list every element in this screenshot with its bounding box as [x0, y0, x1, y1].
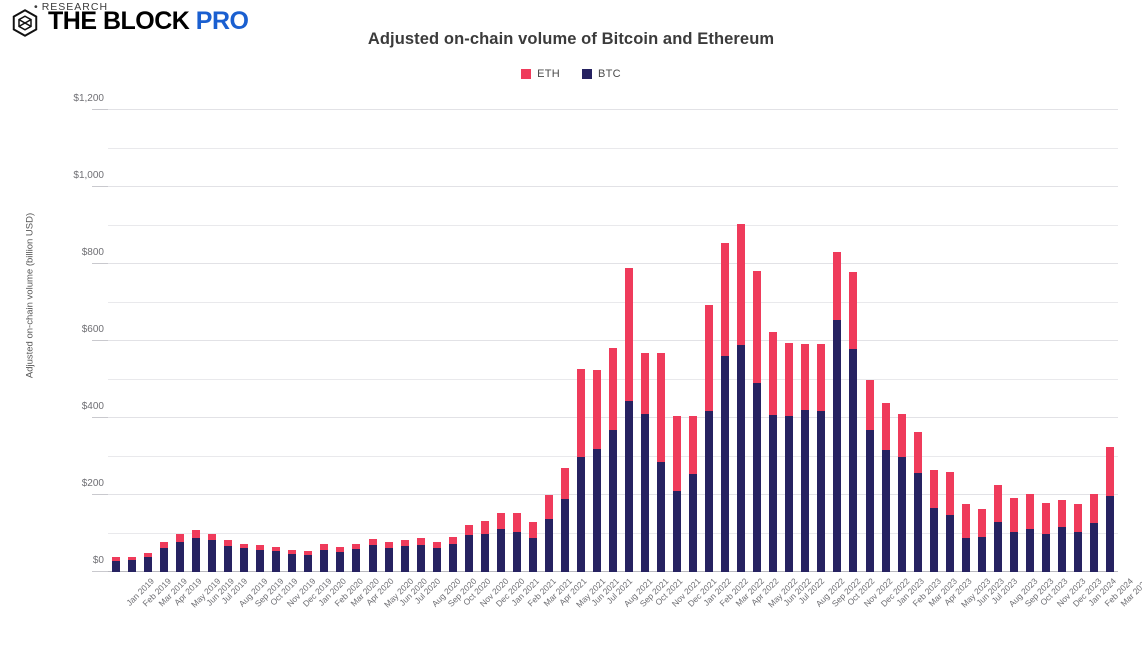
bar-segment-btc[interactable] — [481, 534, 489, 572]
bar-segment-btc[interactable] — [1026, 529, 1034, 572]
bar-segment-eth[interactable] — [1010, 498, 1018, 532]
bar-segment-eth[interactable] — [946, 472, 954, 515]
bar-segment-btc[interactable] — [352, 549, 360, 572]
bar-group[interactable] — [625, 268, 633, 572]
bar-group[interactable] — [673, 416, 681, 572]
bar-segment-btc[interactable] — [978, 537, 986, 572]
bar-group[interactable] — [1058, 500, 1066, 572]
bar-segment-btc[interactable] — [256, 550, 264, 572]
y-tick-label: $600 — [44, 324, 104, 335]
bar-group[interactable] — [898, 414, 906, 572]
bar-group[interactable] — [817, 344, 825, 572]
bar-segment-eth[interactable] — [705, 305, 713, 411]
bar-segment-eth[interactable] — [272, 547, 280, 551]
bar-segment-btc[interactable] — [994, 522, 1002, 572]
bar-group[interactable] — [609, 348, 617, 572]
bar-group[interactable] — [352, 544, 360, 572]
bar-group[interactable] — [689, 416, 697, 572]
bar-group[interactable] — [336, 547, 344, 572]
bar-group[interactable] — [641, 353, 649, 572]
bar-segment-btc[interactable] — [144, 557, 152, 572]
bar-segment-eth[interactable] — [657, 353, 665, 463]
bar-group[interactable] — [1106, 447, 1114, 573]
bar-group[interactable] — [529, 522, 537, 572]
bar-segment-eth[interactable] — [288, 550, 296, 553]
bar-segment-btc[interactable] — [128, 560, 136, 572]
bar-segment-btc[interactable] — [272, 551, 280, 572]
bar-segment-btc[interactable] — [545, 519, 553, 572]
bar-segment-eth[interactable] — [144, 553, 152, 557]
bar-segment-btc[interactable] — [1090, 523, 1098, 572]
bar-group[interactable] — [401, 540, 409, 572]
bar-group[interactable] — [1074, 504, 1082, 572]
bar-segment-eth[interactable] — [978, 509, 986, 537]
bar-segment-btc[interactable] — [866, 430, 874, 572]
bar-group[interactable] — [769, 332, 777, 572]
bar-segment-eth[interactable] — [801, 344, 809, 410]
bar-group[interactable] — [272, 547, 280, 572]
bar-segment-eth[interactable] — [1090, 494, 1098, 523]
y-tick-dash — [92, 571, 108, 572]
bar-segment-btc[interactable] — [401, 546, 409, 572]
bar-segment-eth[interactable] — [481, 521, 489, 534]
bar-segment-eth[interactable] — [401, 540, 409, 546]
bar-segment-eth[interactable] — [625, 268, 633, 401]
bar-group[interactable] — [833, 252, 841, 572]
bar-segment-eth[interactable] — [160, 542, 168, 548]
bar-series-container — [108, 110, 1118, 572]
bar-segment-eth[interactable] — [529, 522, 537, 538]
bar-group[interactable] — [737, 224, 745, 572]
bar-segment-btc[interactable] — [240, 548, 248, 572]
bar-segment-btc[interactable] — [641, 414, 649, 572]
y-tick-label: $800 — [44, 247, 104, 258]
bar-segment-eth[interactable] — [320, 544, 328, 549]
y-tick-dash — [92, 417, 108, 418]
bar-segment-eth[interactable] — [641, 353, 649, 415]
bar-group[interactable] — [946, 472, 954, 572]
bar-group[interactable] — [962, 504, 970, 572]
bar-segment-btc[interactable] — [1106, 496, 1114, 572]
bar-group[interactable] — [288, 550, 296, 572]
bar-group[interactable] — [978, 509, 986, 572]
y-tick-label: $200 — [44, 478, 104, 489]
bar-segment-eth[interactable] — [817, 344, 825, 411]
bar-group[interactable] — [320, 544, 328, 572]
bar-segment-eth[interactable] — [721, 243, 729, 357]
bar-segment-eth[interactable] — [513, 513, 521, 531]
bar-segment-btc[interactable] — [320, 550, 328, 572]
bar-segment-btc[interactable] — [304, 555, 312, 572]
bar-segment-btc[interactable] — [721, 356, 729, 572]
bar-segment-eth[interactable] — [545, 495, 553, 519]
bar-segment-eth[interactable] — [449, 537, 457, 544]
bar-group[interactable] — [192, 530, 200, 572]
bar-group[interactable] — [866, 380, 874, 573]
bar-segment-btc[interactable] — [417, 545, 425, 572]
bar-group[interactable] — [994, 485, 1002, 572]
bar-group[interactable] — [705, 305, 713, 572]
bar-segment-btc[interactable] — [753, 383, 761, 572]
y-tick-label: $0 — [44, 555, 104, 566]
bar-segment-eth[interactable] — [849, 272, 857, 348]
bar-segment-btc[interactable] — [449, 544, 457, 572]
bar-segment-btc[interactable] — [689, 474, 697, 572]
bar-segment-btc[interactable] — [785, 416, 793, 572]
bar-segment-btc[interactable] — [224, 546, 232, 572]
bar-segment-eth[interactable] — [882, 403, 890, 450]
bar-group[interactable] — [304, 551, 312, 572]
bar-segment-btc[interactable] — [593, 449, 601, 572]
y-tick-dash — [92, 263, 108, 264]
bar-segment-eth[interactable] — [192, 530, 200, 538]
y-tick-label: $400 — [44, 401, 104, 412]
bar-segment-eth[interactable] — [561, 468, 569, 499]
bar-segment-btc[interactable] — [288, 554, 296, 572]
bar-segment-btc[interactable] — [433, 548, 441, 572]
bar-segment-eth[interactable] — [689, 416, 697, 474]
bar-segment-eth[interactable] — [914, 432, 922, 472]
bar-group[interactable] — [561, 468, 569, 572]
y-tick-dash — [92, 494, 108, 495]
bar-segment-btc[interactable] — [385, 548, 393, 572]
bar-segment-btc[interactable] — [1042, 534, 1050, 573]
bar-segment-eth[interactable] — [1026, 494, 1034, 529]
bar-group[interactable] — [160, 542, 168, 572]
bar-group[interactable] — [914, 432, 922, 572]
bar-group[interactable] — [417, 538, 425, 572]
bar-segment-btc[interactable] — [1058, 527, 1066, 572]
bar-group[interactable] — [369, 539, 377, 572]
bar-segment-eth[interactable] — [336, 547, 344, 552]
bar-group[interactable] — [128, 557, 136, 572]
bar-segment-btc[interactable] — [577, 457, 585, 572]
bar-group[interactable] — [513, 513, 521, 572]
bar-segment-eth[interactable] — [352, 544, 360, 549]
bar-group[interactable] — [721, 243, 729, 572]
bar-group[interactable] — [849, 272, 857, 572]
bar-group[interactable] — [801, 344, 809, 572]
bar-segment-btc[interactable] — [673, 491, 681, 572]
bar-segment-btc[interactable] — [801, 410, 809, 572]
bar-group[interactable] — [1042, 503, 1050, 572]
bar-group[interactable] — [593, 370, 601, 572]
bar-segment-eth[interactable] — [769, 332, 777, 415]
bar-group[interactable] — [545, 495, 553, 572]
y-tick-label: $1,200 — [44, 93, 104, 104]
bar-segment-btc[interactable] — [529, 538, 537, 572]
bar-segment-btc[interactable] — [609, 430, 617, 572]
bar-group[interactable] — [785, 343, 793, 572]
bar-segment-btc[interactable] — [657, 462, 665, 572]
bar-segment-eth[interactable] — [497, 513, 505, 529]
bar-group[interactable] — [753, 271, 761, 572]
bar-group[interactable] — [433, 542, 441, 572]
bar-group[interactable] — [481, 521, 489, 572]
bar-segment-eth[interactable] — [898, 414, 906, 456]
bar-segment-eth[interactable] — [930, 470, 938, 509]
bar-group[interactable] — [577, 369, 585, 572]
bar-segment-btc[interactable] — [208, 540, 216, 572]
bar-segment-eth[interactable] — [304, 551, 312, 554]
bar-segment-btc[interactable] — [336, 552, 344, 572]
bar-segment-eth[interactable] — [866, 380, 874, 430]
bar-group[interactable] — [497, 513, 505, 572]
bar-group[interactable] — [144, 553, 152, 572]
bar-group[interactable] — [1090, 494, 1098, 572]
bar-group[interactable] — [1026, 494, 1034, 572]
bar-group[interactable] — [657, 353, 665, 572]
bar-group[interactable] — [240, 544, 248, 572]
bar-segment-btc[interactable] — [192, 538, 200, 572]
bar-segment-eth[interactable] — [1106, 447, 1114, 496]
bar-segment-btc[interactable] — [160, 548, 168, 572]
plot-region: $0$200$400$600$800$1,000$1,200 Jan 2019F… — [108, 110, 1118, 572]
bar-segment-eth[interactable] — [128, 557, 136, 560]
bar-segment-btc[interactable] — [112, 561, 120, 572]
bar-segment-eth[interactable] — [994, 485, 1002, 522]
bar-segment-eth[interactable] — [609, 348, 617, 431]
bar-segment-eth[interactable] — [785, 343, 793, 416]
bar-segment-btc[interactable] — [817, 411, 825, 572]
bar-group[interactable] — [112, 557, 120, 572]
bar-group[interactable] — [224, 540, 232, 572]
bar-group[interactable] — [1010, 498, 1018, 572]
bar-segment-btc[interactable] — [705, 411, 713, 572]
bar-segment-btc[interactable] — [930, 508, 938, 572]
bar-segment-eth[interactable] — [1074, 504, 1082, 532]
bar-segment-eth[interactable] — [577, 369, 585, 458]
bar-group[interactable] — [208, 534, 216, 573]
bar-group[interactable] — [882, 403, 890, 572]
bar-segment-eth[interactable] — [385, 542, 393, 548]
bar-segment-btc[interactable] — [513, 532, 521, 572]
bar-segment-btc[interactable] — [369, 545, 377, 572]
bar-group[interactable] — [465, 525, 473, 572]
bar-segment-btc[interactable] — [769, 415, 777, 572]
bar-segment-btc[interactable] — [833, 320, 841, 572]
bar-segment-eth[interactable] — [176, 534, 184, 542]
chart-area: Adjusted on-chain volume (billion USD) $… — [0, 0, 1142, 649]
bar-segment-btc[interactable] — [882, 450, 890, 572]
y-tick-label: $1,000 — [44, 170, 104, 181]
bar-segment-eth[interactable] — [833, 252, 841, 319]
bar-segment-eth[interactable] — [433, 542, 441, 548]
bar-segment-btc[interactable] — [465, 535, 473, 572]
bar-segment-eth[interactable] — [256, 545, 264, 549]
bar-group[interactable] — [176, 534, 184, 572]
y-tick-dash — [92, 186, 108, 187]
bar-segment-eth[interactable] — [465, 525, 473, 536]
bar-segment-eth[interactable] — [417, 538, 425, 545]
y-tick-dash — [92, 340, 108, 341]
bar-segment-eth[interactable] — [593, 370, 601, 449]
bar-group[interactable] — [256, 545, 264, 572]
y-axis-label: Adjusted on-chain volume (billion USD) — [25, 116, 36, 476]
bar-segment-eth[interactable] — [962, 504, 970, 538]
bar-segment-btc[interactable] — [849, 349, 857, 572]
bar-segment-btc[interactable] — [561, 499, 569, 572]
bar-segment-btc[interactable] — [176, 542, 184, 572]
bar-segment-eth[interactable] — [753, 271, 761, 383]
bar-segment-btc[interactable] — [625, 401, 633, 572]
bar-segment-eth[interactable] — [673, 416, 681, 491]
bar-segment-eth[interactable] — [208, 534, 216, 541]
bar-segment-eth[interactable] — [369, 539, 377, 545]
bar-group[interactable] — [449, 537, 457, 572]
bar-segment-eth[interactable] — [112, 557, 120, 561]
bar-segment-btc[interactable] — [737, 345, 745, 572]
bar-segment-eth[interactable] — [224, 540, 232, 545]
bar-segment-btc[interactable] — [946, 515, 954, 572]
bar-segment-eth[interactable] — [240, 544, 248, 549]
bar-segment-btc[interactable] — [497, 529, 505, 572]
bar-segment-eth[interactable] — [1042, 503, 1050, 533]
bar-segment-eth[interactable] — [1058, 500, 1066, 526]
bar-group[interactable] — [385, 542, 393, 572]
bar-segment-eth[interactable] — [737, 224, 745, 345]
bar-segment-btc[interactable] — [914, 473, 922, 572]
bar-group[interactable] — [930, 470, 938, 572]
bar-segment-btc[interactable] — [1010, 532, 1018, 572]
bar-segment-btc[interactable] — [962, 538, 970, 572]
bar-segment-btc[interactable] — [1074, 532, 1082, 572]
bar-segment-btc[interactable] — [898, 457, 906, 573]
y-tick-dash — [92, 109, 108, 110]
